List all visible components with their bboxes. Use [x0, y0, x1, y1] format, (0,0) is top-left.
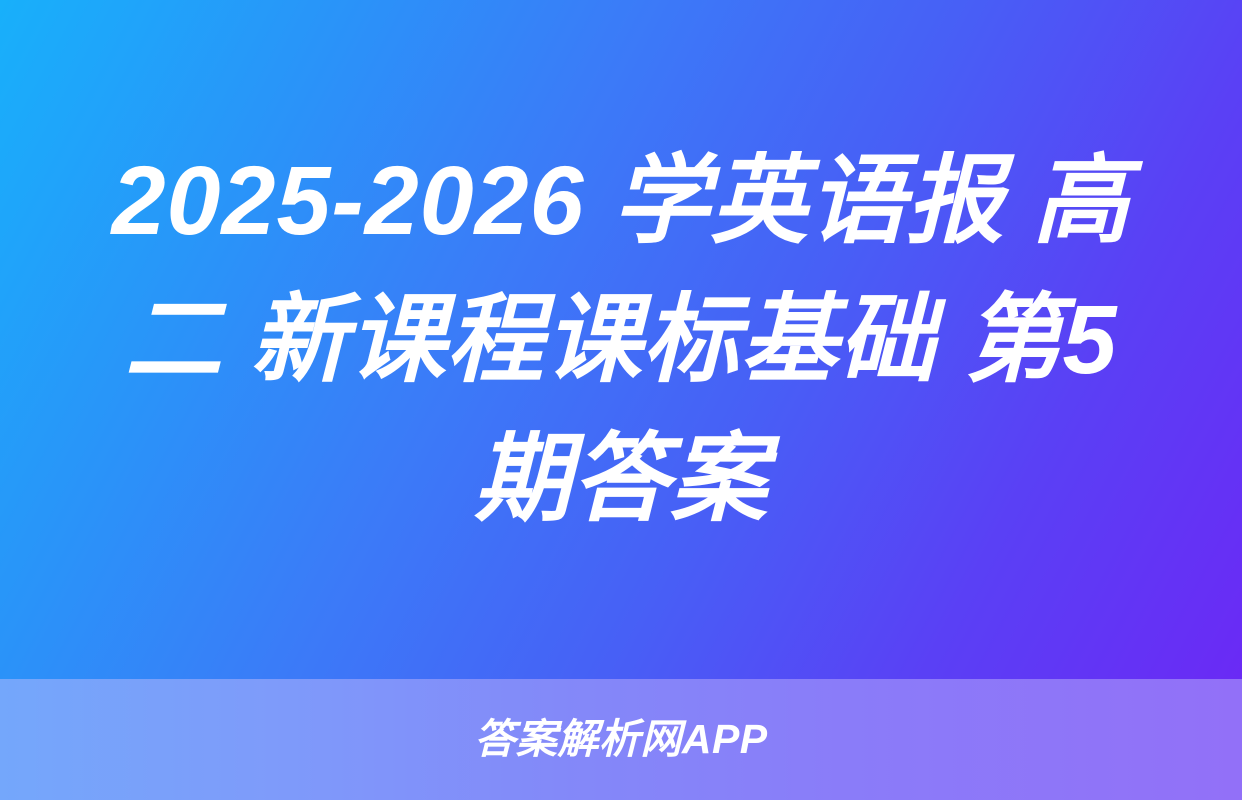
page-title-line-1: 2025-2026 学英语报 高 — [40, 131, 1202, 270]
footer-watermark-band: 答案解析网APP — [0, 679, 1242, 800]
page-title-line-2: 二 新课程课标基础 第5 — [40, 270, 1202, 409]
app-watermark-label: 答案解析网APP — [474, 719, 767, 760]
poster-title-block: 2025-2026 学英语报 高 二 新课程课标基础 第5 期答案 — [0, 0, 1242, 679]
page-title-line-3: 期答案 — [40, 409, 1202, 548]
answer-poster: 2025-2026 学英语报 高 二 新课程课标基础 第5 期答案 答案解析网A… — [0, 0, 1242, 800]
